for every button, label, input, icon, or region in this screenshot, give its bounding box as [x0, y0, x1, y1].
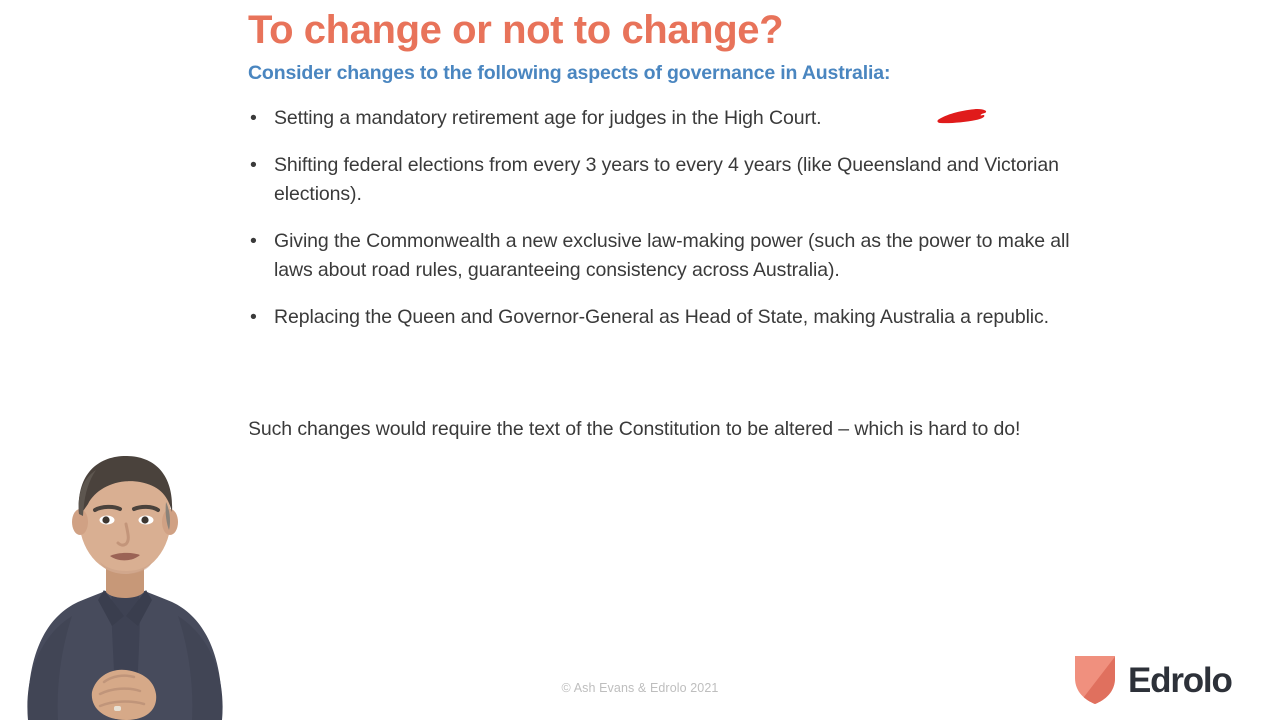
bullet-list: • Setting a mandatory retirement age for… [248, 104, 1078, 332]
edrolo-wordmark: Edrolo [1128, 663, 1232, 698]
bullet-marker-icon: • [250, 303, 257, 332]
slide-canvas: To change or not to change? Consider cha… [0, 0, 1280, 720]
slide-title: To change or not to change? [248, 8, 1148, 52]
list-item-text: Shifting federal elections from every 3 … [274, 154, 1059, 205]
list-item-text: Setting a mandatory retirement age for j… [274, 107, 821, 129]
bullet-marker-icon: • [250, 151, 257, 180]
edrolo-logo: Edrolo [1073, 652, 1273, 708]
list-item: • Shifting federal elections from every … [248, 151, 1078, 209]
list-item: • Giving the Commonwealth a new exclusiv… [248, 227, 1078, 285]
presenter-video-overlay[interactable] [0, 430, 250, 720]
list-item: • Replacing the Queen and Governor-Gener… [248, 303, 1078, 332]
bullet-marker-icon: • [250, 227, 257, 256]
bullet-marker-icon: • [250, 104, 257, 133]
presenter-figure [0, 430, 250, 720]
list-item-text: Giving the Commonwealth a new exclusive … [274, 230, 1070, 281]
closing-paragraph: Such changes would require the text of t… [248, 415, 1076, 444]
slide-body: • Setting a mandatory retirement age for… [248, 104, 1078, 332]
list-item-text: Replacing the Queen and Governor-General… [274, 306, 1049, 328]
list-item: • Setting a mandatory retirement age for… [248, 104, 1078, 133]
slide-subtitle: Consider changes to the following aspect… [248, 62, 1148, 84]
shield-icon [1073, 654, 1117, 706]
